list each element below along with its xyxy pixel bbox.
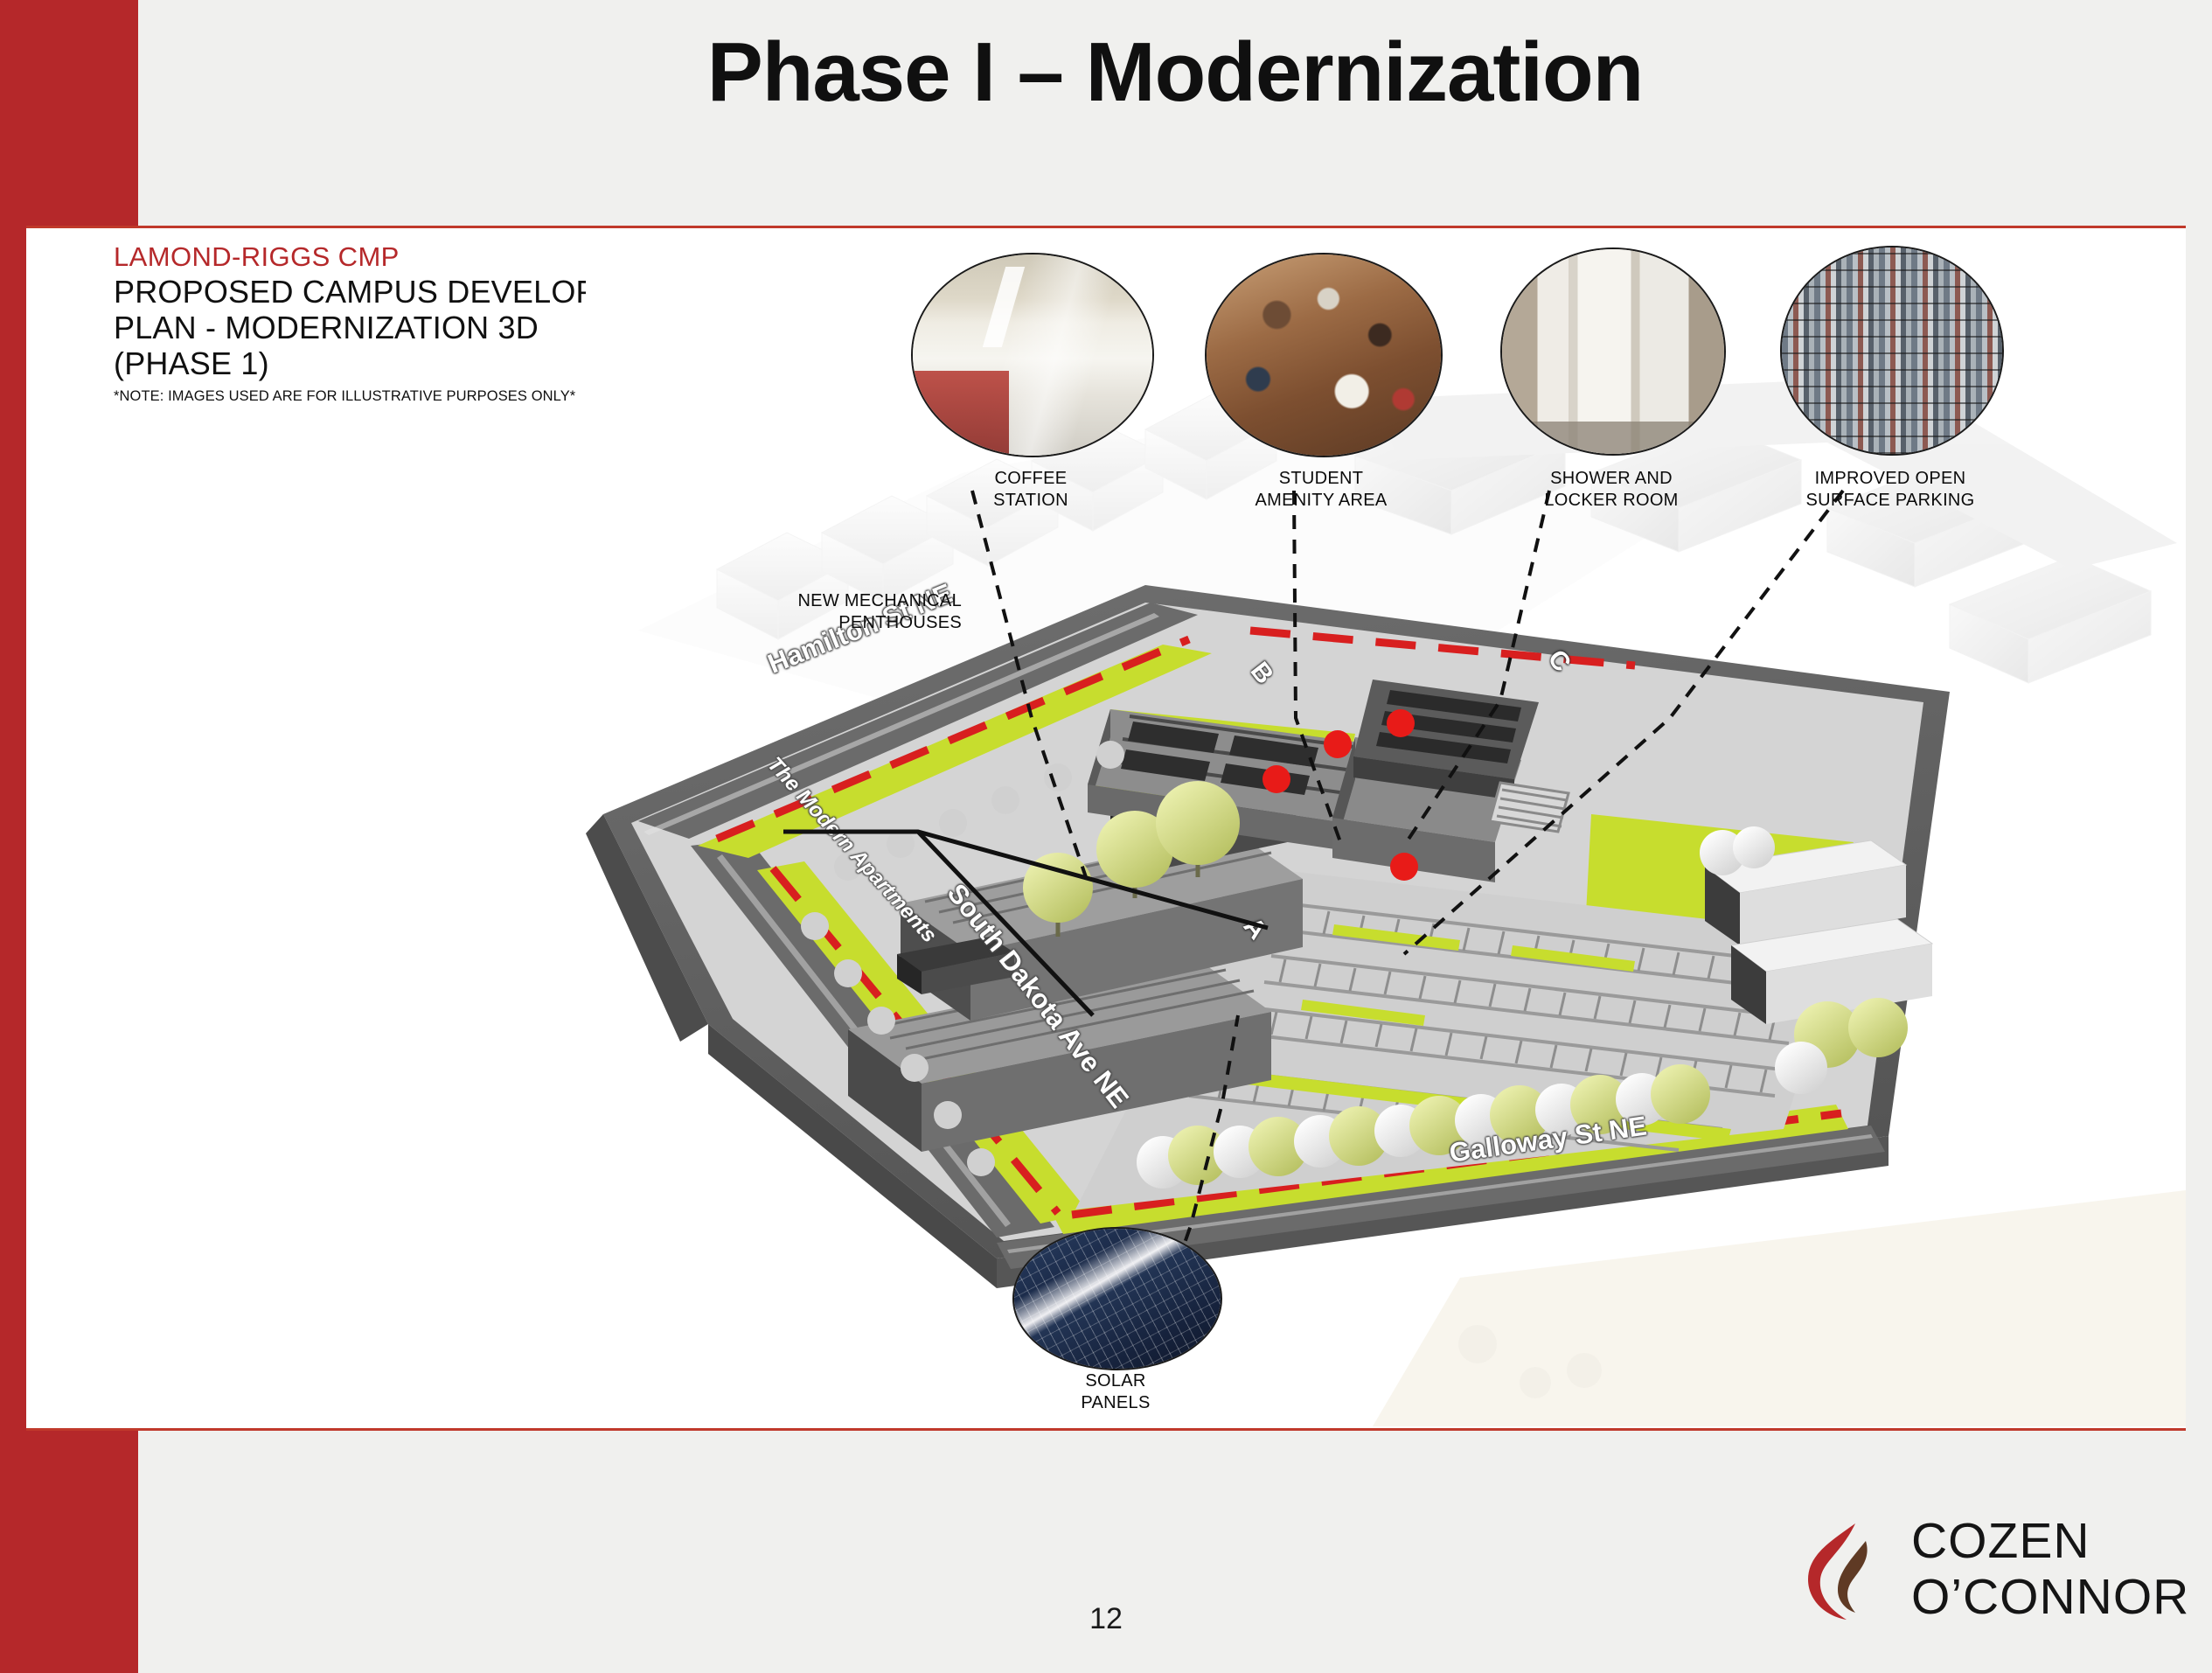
marker-dot-amenity xyxy=(1387,709,1415,737)
student-amenity-photo xyxy=(1207,254,1441,456)
marker-dot-mechanical-a xyxy=(1324,730,1352,758)
callout-photo-solar-panels[interactable] xyxy=(1012,1227,1222,1370)
logo-line-1: COZEN xyxy=(1911,1513,2189,1569)
annotation-new-mechanical-penthouses: NEW MECHANICAL PENTHOUSES xyxy=(699,590,962,634)
marker-dot-parking xyxy=(1390,853,1418,881)
callout-label-solar-panels: SOLAR PANELS xyxy=(1012,1370,1219,1414)
solar-panels-photo xyxy=(1014,1229,1221,1369)
cozen-oconnor-logo: COZEN O’CONNOR xyxy=(1801,1511,2168,1634)
surface-parking-label-line2: SURFACE PARKING xyxy=(1805,491,1974,510)
surface-parking-label-line1: IMPROVED OPEN xyxy=(1815,469,1966,488)
callout-label-student-amenity: STUDENT AMENITY AREA xyxy=(1177,468,1465,512)
callout-photo-coffee-station[interactable] xyxy=(911,253,1154,457)
callout-label-coffee-station: COFFEE STATION xyxy=(911,468,1151,512)
shower-locker-photo xyxy=(1502,249,1724,454)
student-amenity-label-line1: STUDENT xyxy=(1279,469,1364,488)
surface-parking-photo xyxy=(1782,247,2002,454)
cozen-flame-icon xyxy=(1801,1518,1899,1623)
callout-photo-surface-parking[interactable] xyxy=(1780,246,2004,456)
callout-label-surface-parking: IMPROVED OPEN SURFACE PARKING xyxy=(1733,468,2048,512)
coffee-station-label-line1: COFFEE xyxy=(995,469,1068,488)
marker-dot-mechanical-b xyxy=(1263,765,1290,793)
cozen-oconnor-wordmark: COZEN O’CONNOR xyxy=(1911,1513,2189,1625)
coffee-station-photo xyxy=(913,254,1152,456)
shower-locker-label-line1: SHOWER AND xyxy=(1550,469,1673,488)
logo-line-2: O’CONNOR xyxy=(1911,1569,2189,1625)
shower-locker-label-line2: LOCKER ROOM xyxy=(1544,491,1678,510)
callout-label-shower-locker: SHOWER AND LOCKER ROOM xyxy=(1467,468,1756,512)
student-amenity-label-line2: AMENITY AREA xyxy=(1255,491,1387,510)
coffee-station-label-line2: STATION xyxy=(993,491,1068,510)
mechanical-label-line1: NEW MECHANICAL xyxy=(797,591,962,610)
callout-photo-student-amenity[interactable] xyxy=(1205,253,1443,457)
solar-panels-label-line2: PANELS xyxy=(1081,1393,1150,1412)
page-title: Phase I – Modernization xyxy=(138,24,2212,121)
mechanical-label-line2: PENTHOUSES xyxy=(838,613,962,632)
callout-photo-shower-locker[interactable] xyxy=(1500,247,1726,456)
solar-panels-label-line1: SOLAR xyxy=(1085,1371,1145,1391)
content-panel: LAMOND-RIGGS CMP PROPOSED CAMPUS DEVELOP… xyxy=(26,226,2186,1431)
